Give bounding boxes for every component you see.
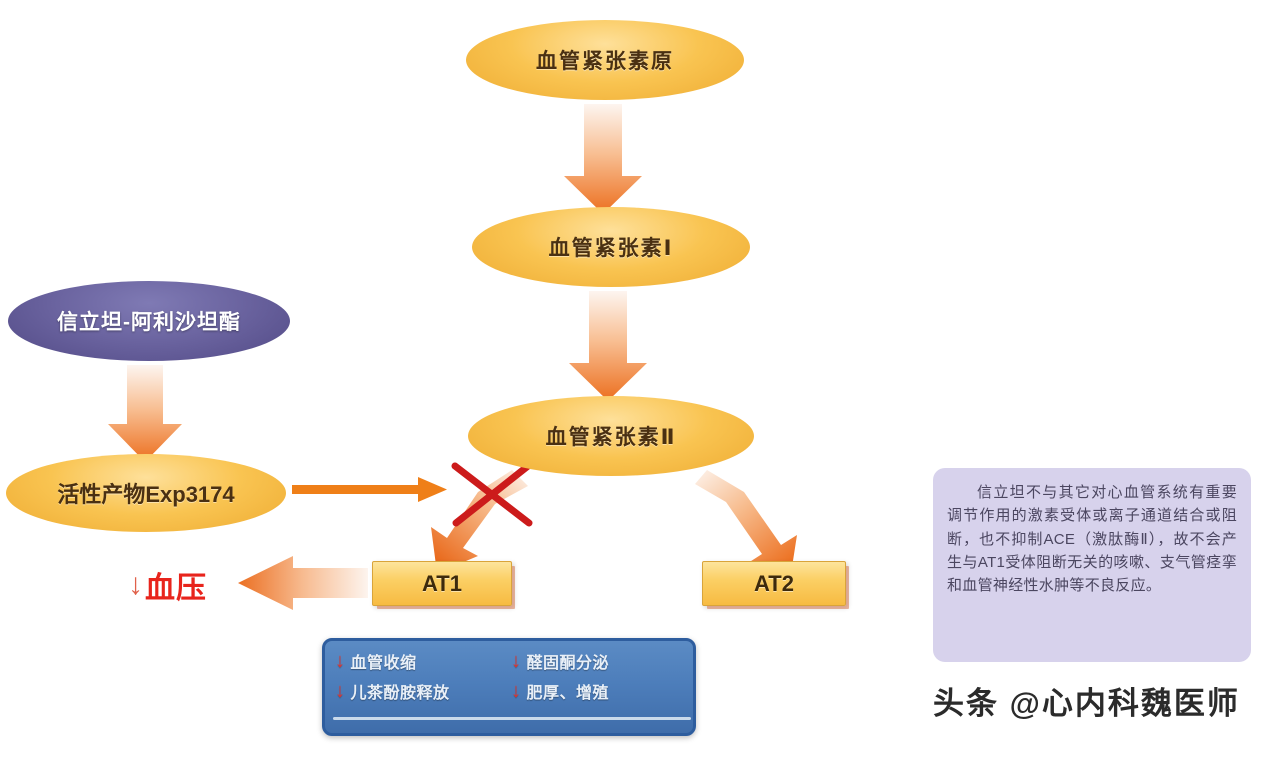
down-arrow-icon: ↓ — [335, 651, 346, 671]
arrow-angiotensin1-to-angiotensin2 — [569, 291, 647, 401]
node-angiotensinogen-label: 血管紧张素原 — [536, 45, 674, 75]
effect-label: 血管收缩 — [351, 649, 417, 673]
arrow-drug-to-metabolite — [108, 365, 182, 462]
watermark-text: 头条 @心内科魏医师 — [933, 678, 1240, 723]
arrow-metabolite-to-block — [292, 477, 447, 502]
at1-effects-panel: ↓ 血管收缩 ↓ 醛固酮分泌 ↓ 儿茶酚胺释放 ↓ 肥厚、增殖 — [322, 638, 696, 736]
node-angiotensinogen: 血管紧张素原 — [466, 20, 744, 100]
effect-label: 儿茶酚胺释放 — [351, 679, 450, 703]
arrow-at1-to-blood-pressure — [238, 556, 368, 610]
effect-label: 肥厚、增殖 — [527, 679, 610, 703]
receptor-box-at2: AT2 — [702, 561, 846, 606]
block-x-icon — [455, 466, 529, 523]
node-metabolite-label: 活性产物Exp3174 — [57, 477, 234, 509]
effect-item-hypertrophy: ↓ 肥厚、增殖 — [511, 679, 683, 703]
effect-item-aldosterone: ↓ 醛固酮分泌 — [511, 649, 683, 673]
diagram-canvas: 血管紧张素原 血管紧张素Ⅰ 血管紧张素Ⅱ 信立坦-阿利沙坦酯 活性产物Exp31… — [0, 0, 1280, 758]
node-active-metabolite: 活性产物Exp3174 — [6, 454, 286, 532]
node-angiotensin-1-label: 血管紧张素Ⅰ — [549, 232, 674, 262]
node-angiotensin-1: 血管紧张素Ⅰ — [472, 207, 750, 287]
node-drug-label: 信立坦-阿利沙坦酯 — [57, 306, 241, 336]
effects-grid: ↓ 血管收缩 ↓ 醛固酮分泌 ↓ 儿茶酚胺释放 ↓ 肥厚、增殖 — [335, 649, 683, 703]
down-arrow-icon: ↓ — [335, 681, 346, 701]
connector-at1-to-effects — [433, 604, 447, 638]
node-angiotensin-2: 血管紧张素Ⅱ — [468, 396, 754, 476]
side-note-box: 信立坦不与其它对心血管系统有重要调节作用的激素受体或离子通道结合或阻断，也不抑制… — [933, 468, 1251, 662]
receptor-box-at1: AT1 — [372, 561, 512, 606]
panel-divider — [333, 717, 691, 720]
node-drug-allisartan: 信立坦-阿利沙坦酯 — [8, 281, 290, 361]
blood-pressure-label: 血压 — [145, 563, 207, 607]
blood-pressure-indicator: ↓ 血压 — [128, 563, 207, 607]
down-arrow-icon: ↓ — [511, 681, 522, 701]
arrow-angiotensinogen-to-angiotensin1 — [564, 104, 642, 214]
down-arrow-icon: ↓ — [511, 651, 522, 671]
effect-item-vasoconstriction: ↓ 血管收缩 — [335, 649, 507, 673]
receptor-at1-label: AT1 — [422, 571, 462, 597]
node-angiotensin-2-label: 血管紧张素Ⅱ — [546, 421, 677, 451]
receptor-at2-label: AT2 — [754, 571, 794, 597]
arrow-angiotensin2-to-at1 — [431, 470, 528, 573]
down-arrow-icon: ↓ — [128, 570, 143, 600]
effect-item-catecholamine: ↓ 儿茶酚胺释放 — [335, 679, 507, 703]
effect-label: 醛固酮分泌 — [527, 649, 610, 673]
